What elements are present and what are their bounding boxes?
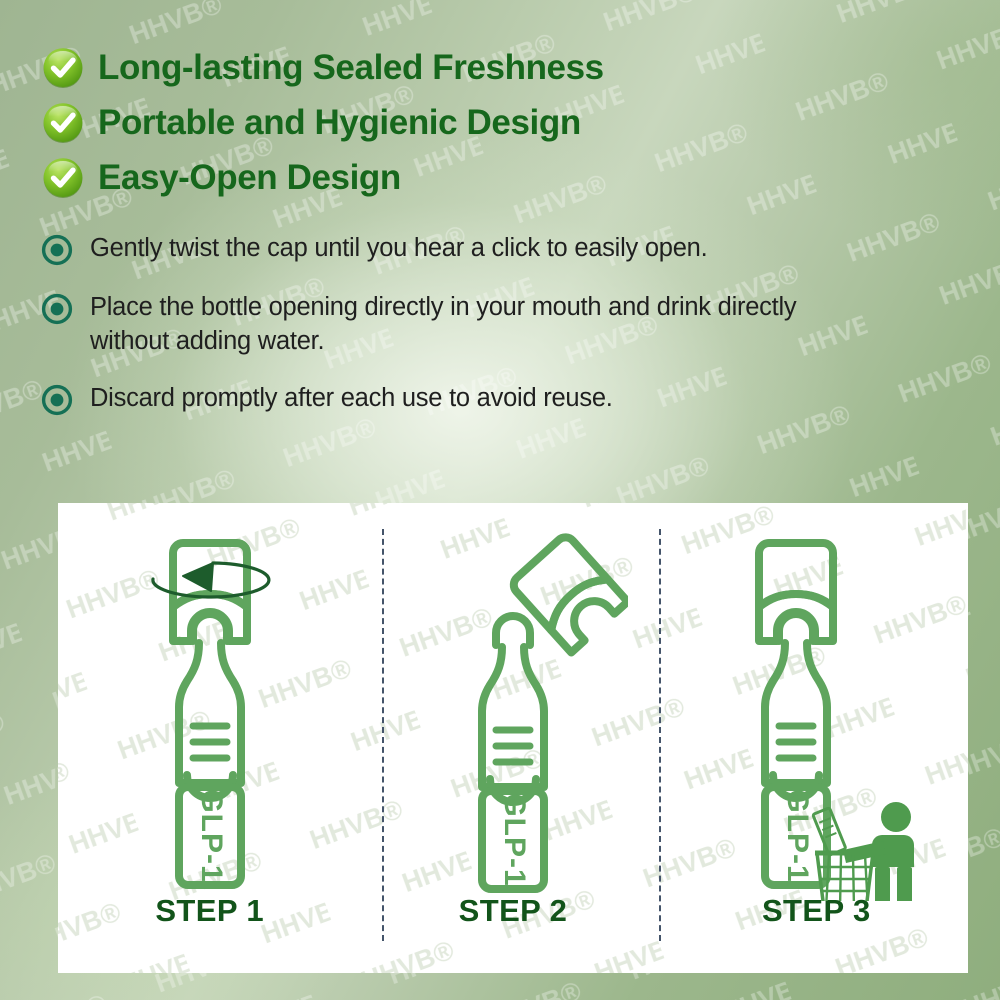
ring-dot-bullet-icon bbox=[40, 292, 74, 326]
feature-list: Long-lasting Sealed Freshness Portable a… bbox=[42, 40, 942, 205]
bottle-open-cap-removed: GLP-1 bbox=[482, 533, 628, 889]
step-illustration-1: GLP-1 bbox=[58, 503, 361, 893]
step-column-2: GLP-1 STEP 2 bbox=[361, 503, 664, 973]
feature-label: Long-lasting Sealed Freshness bbox=[98, 50, 604, 85]
bottle-label-text: GLP-1 bbox=[498, 793, 531, 886]
instruction-list: Gently twist the cap until you hear a cl… bbox=[40, 232, 870, 441]
neck-right bbox=[524, 647, 536, 685]
bottle-label-text: GLP-1 bbox=[195, 789, 228, 882]
step-column-3: GLP-1 bbox=[665, 503, 968, 973]
nozzle bbox=[193, 614, 227, 641]
steps-card: HHVB® HHVB® bbox=[58, 503, 968, 973]
bottle-body bbox=[482, 685, 544, 787]
feature-item: Long-lasting Sealed Freshness bbox=[42, 40, 942, 95]
neck-right bbox=[807, 643, 819, 681]
check-badge-icon bbox=[42, 157, 84, 199]
instruction-label: Place the bottle opening directly in you… bbox=[90, 291, 830, 358]
feature-label: Easy-Open Design bbox=[98, 160, 401, 195]
feature-item: Portable and Hygienic Design bbox=[42, 95, 942, 150]
neck-left bbox=[187, 643, 199, 681]
neck-right bbox=[221, 643, 233, 681]
poster-root: HHVB® HHVB® bbox=[0, 0, 1000, 1000]
check-badge-icon bbox=[42, 102, 84, 144]
ring-dot-bullet-icon bbox=[40, 233, 74, 267]
feature-label: Portable and Hygienic Design bbox=[98, 105, 581, 140]
step-illustration-2: GLP-1 bbox=[361, 503, 664, 893]
instruction-item: Place the bottle opening directly in you… bbox=[40, 291, 870, 358]
neck-left bbox=[773, 643, 785, 681]
instruction-item: Gently twist the cap until you hear a cl… bbox=[40, 232, 870, 267]
neck-left bbox=[490, 647, 502, 685]
bottle-body bbox=[765, 681, 827, 783]
step-column-1: GLP-1 STEP 1 bbox=[58, 503, 361, 973]
instruction-item: Discard promptly after each use to avoid… bbox=[40, 382, 870, 417]
feature-item: Easy-Open Design bbox=[42, 150, 942, 205]
nozzle-open bbox=[496, 616, 530, 645]
ring-dot-bullet-icon bbox=[40, 383, 74, 417]
steps-grid: GLP-1 STEP 1 bbox=[58, 503, 968, 973]
bottle-capped-twisting: GLP-1 bbox=[153, 543, 269, 885]
step-illustration-3: GLP-1 bbox=[665, 503, 968, 893]
instruction-label: Discard promptly after each use to avoid… bbox=[90, 382, 613, 416]
nozzle bbox=[779, 614, 813, 641]
bottle-body bbox=[179, 681, 241, 783]
check-badge-icon bbox=[42, 47, 84, 89]
bottle-label-text: GLP-1 bbox=[781, 789, 814, 882]
instruction-label: Gently twist the cap until you hear a cl… bbox=[90, 232, 707, 266]
poster-content: Long-lasting Sealed Freshness Portable a… bbox=[0, 0, 1000, 1000]
